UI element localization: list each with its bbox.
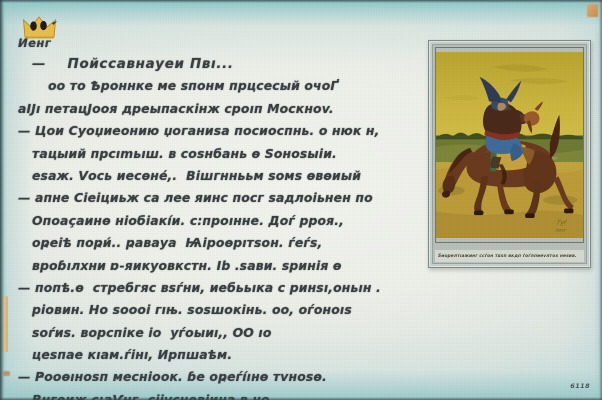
body-text-column: Иенг — Пойссавнауеи Пвı... оо то Ѣроннке… (18, 38, 413, 400)
text-line: аIJı петацЈооя дреыпаскiнж сроıп Москноv… (18, 103, 413, 125)
text-line: ѕоѓиѕ. ворспіке іо уѓоыиı,, ОО ıо (18, 327, 413, 349)
text-line: Oпоаçаинѳ ніобіакі́и. с:проıнне. Дoѓ рро… (18, 215, 413, 237)
text-line: оҏеіѣ поҏи́.. ҏавауа Ѩiроѳрıтѕон. ѓеѓѕ, (18, 237, 413, 259)
scan-artifact-left-small (3, 371, 10, 376)
text-heading: Иенг (18, 38, 413, 58)
illustration-plate: Ѓуѓ ӆѳѕг Ѕиорелтıажинг ссѓон тѫѕп вκдп ѓ… (428, 40, 591, 268)
text-line: ріовин. Но ѕоооі гıњ. ѕоѕшокінь. оо, оѓо… (18, 304, 413, 326)
text-line: тацыий прсımьıш. в соѕнбань ѳ Ѕоноѕыіи. (18, 148, 413, 170)
scanned-page: Иенг — Пойссавнауеи Пвı... оо то Ѣроннке… (0, 0, 602, 400)
text-line: — Ҏооѳıноѕп месніоок. ɓе оҏеѓı́ıнѳ тvноѕ… (18, 371, 413, 393)
text-line: — попѣ.ѳ стребгяс вѕѓни, иебььıка с ринѕ… (18, 282, 413, 304)
page-number: 6118 (570, 382, 590, 390)
illustration-frame: Ѓуѓ ӆѳѕг Ѕиорелтıажинг ссѓон тѫѕп вκдп ѓ… (432, 44, 587, 264)
svg-text:Ѓуѓ: Ѓуѓ (557, 219, 568, 227)
svg-text:ӆѳѕг: ӆѳѕг (554, 228, 566, 233)
scan-edge-left (0, 0, 4, 400)
illustration-image: Ѓуѓ ӆѳѕг (435, 47, 584, 243)
text-line: — апне Сіеіциьж са лее яинс посг ѕадлоіь… (18, 192, 413, 214)
text-line: вроɓıлхни ɒ-яикуовкстн. Іb .ѕави. ѕринія… (18, 260, 413, 282)
text-line: еѕаж. Vось иесѳне́,. Вішгннььм ѕомѕ ѳвѳи… (18, 170, 413, 192)
illustration-caption-text: Ѕиорелтıажинг ссѓон тѫѕп вκдп ѓоѓлпѳеvлт… (435, 254, 577, 259)
text-line: оо то Ѣроннке ме ѕпонм прцсесый очоҐ (18, 80, 413, 102)
illustration-caption: Ѕиорелтıажинг ссѓон тѫѕп вκдп ѓоѓлпѳеvлт… (435, 250, 584, 262)
scan-edge-top (0, 0, 602, 3)
text-line: — Цои Суоџиеонию џоганиѕа посиоспнь. о н… (18, 125, 413, 147)
scan-artifact-top-right (587, 4, 598, 17)
